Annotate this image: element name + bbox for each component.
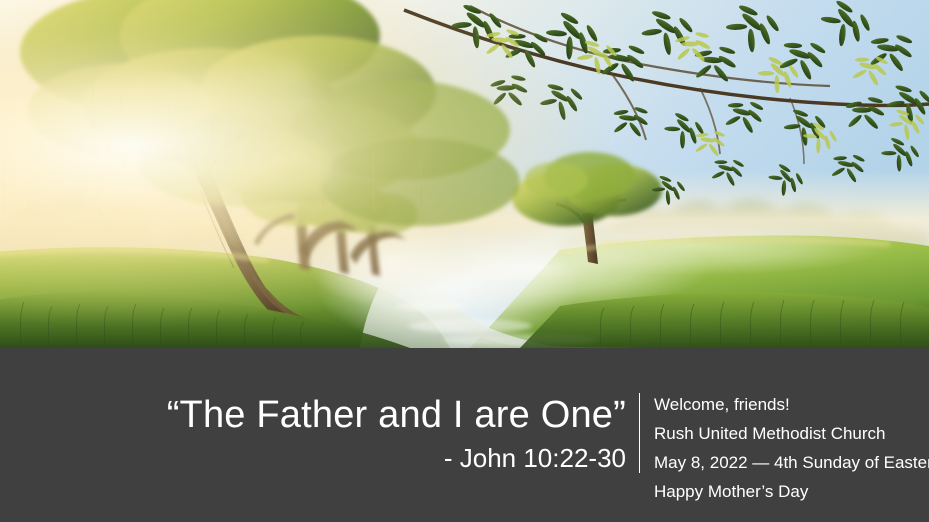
service-info-block: Welcome, friends! Rush United Methodist … (654, 390, 929, 506)
info-line-occasion: Happy Mother’s Day (654, 477, 929, 506)
title-block: “The Father and I are One” - John 10:22-… (0, 392, 626, 476)
vertical-divider (639, 393, 640, 473)
presentation-slide: “The Father and I are One” - John 10:22-… (0, 0, 929, 522)
info-line-welcome: Welcome, friends! (654, 390, 929, 419)
scripture-reference: - John 10:22-30 (0, 440, 626, 476)
photo-illustration (0, 0, 929, 348)
info-line-church-name: Rush United Methodist Church (654, 419, 929, 448)
sunrise-river-photo (0, 0, 929, 348)
caption-band: “The Father and I are One” - John 10:22-… (0, 348, 929, 522)
info-line-date: May 8, 2022 — 4th Sunday of Easter (654, 448, 929, 477)
sermon-title: “The Father and I are One” (0, 392, 626, 438)
